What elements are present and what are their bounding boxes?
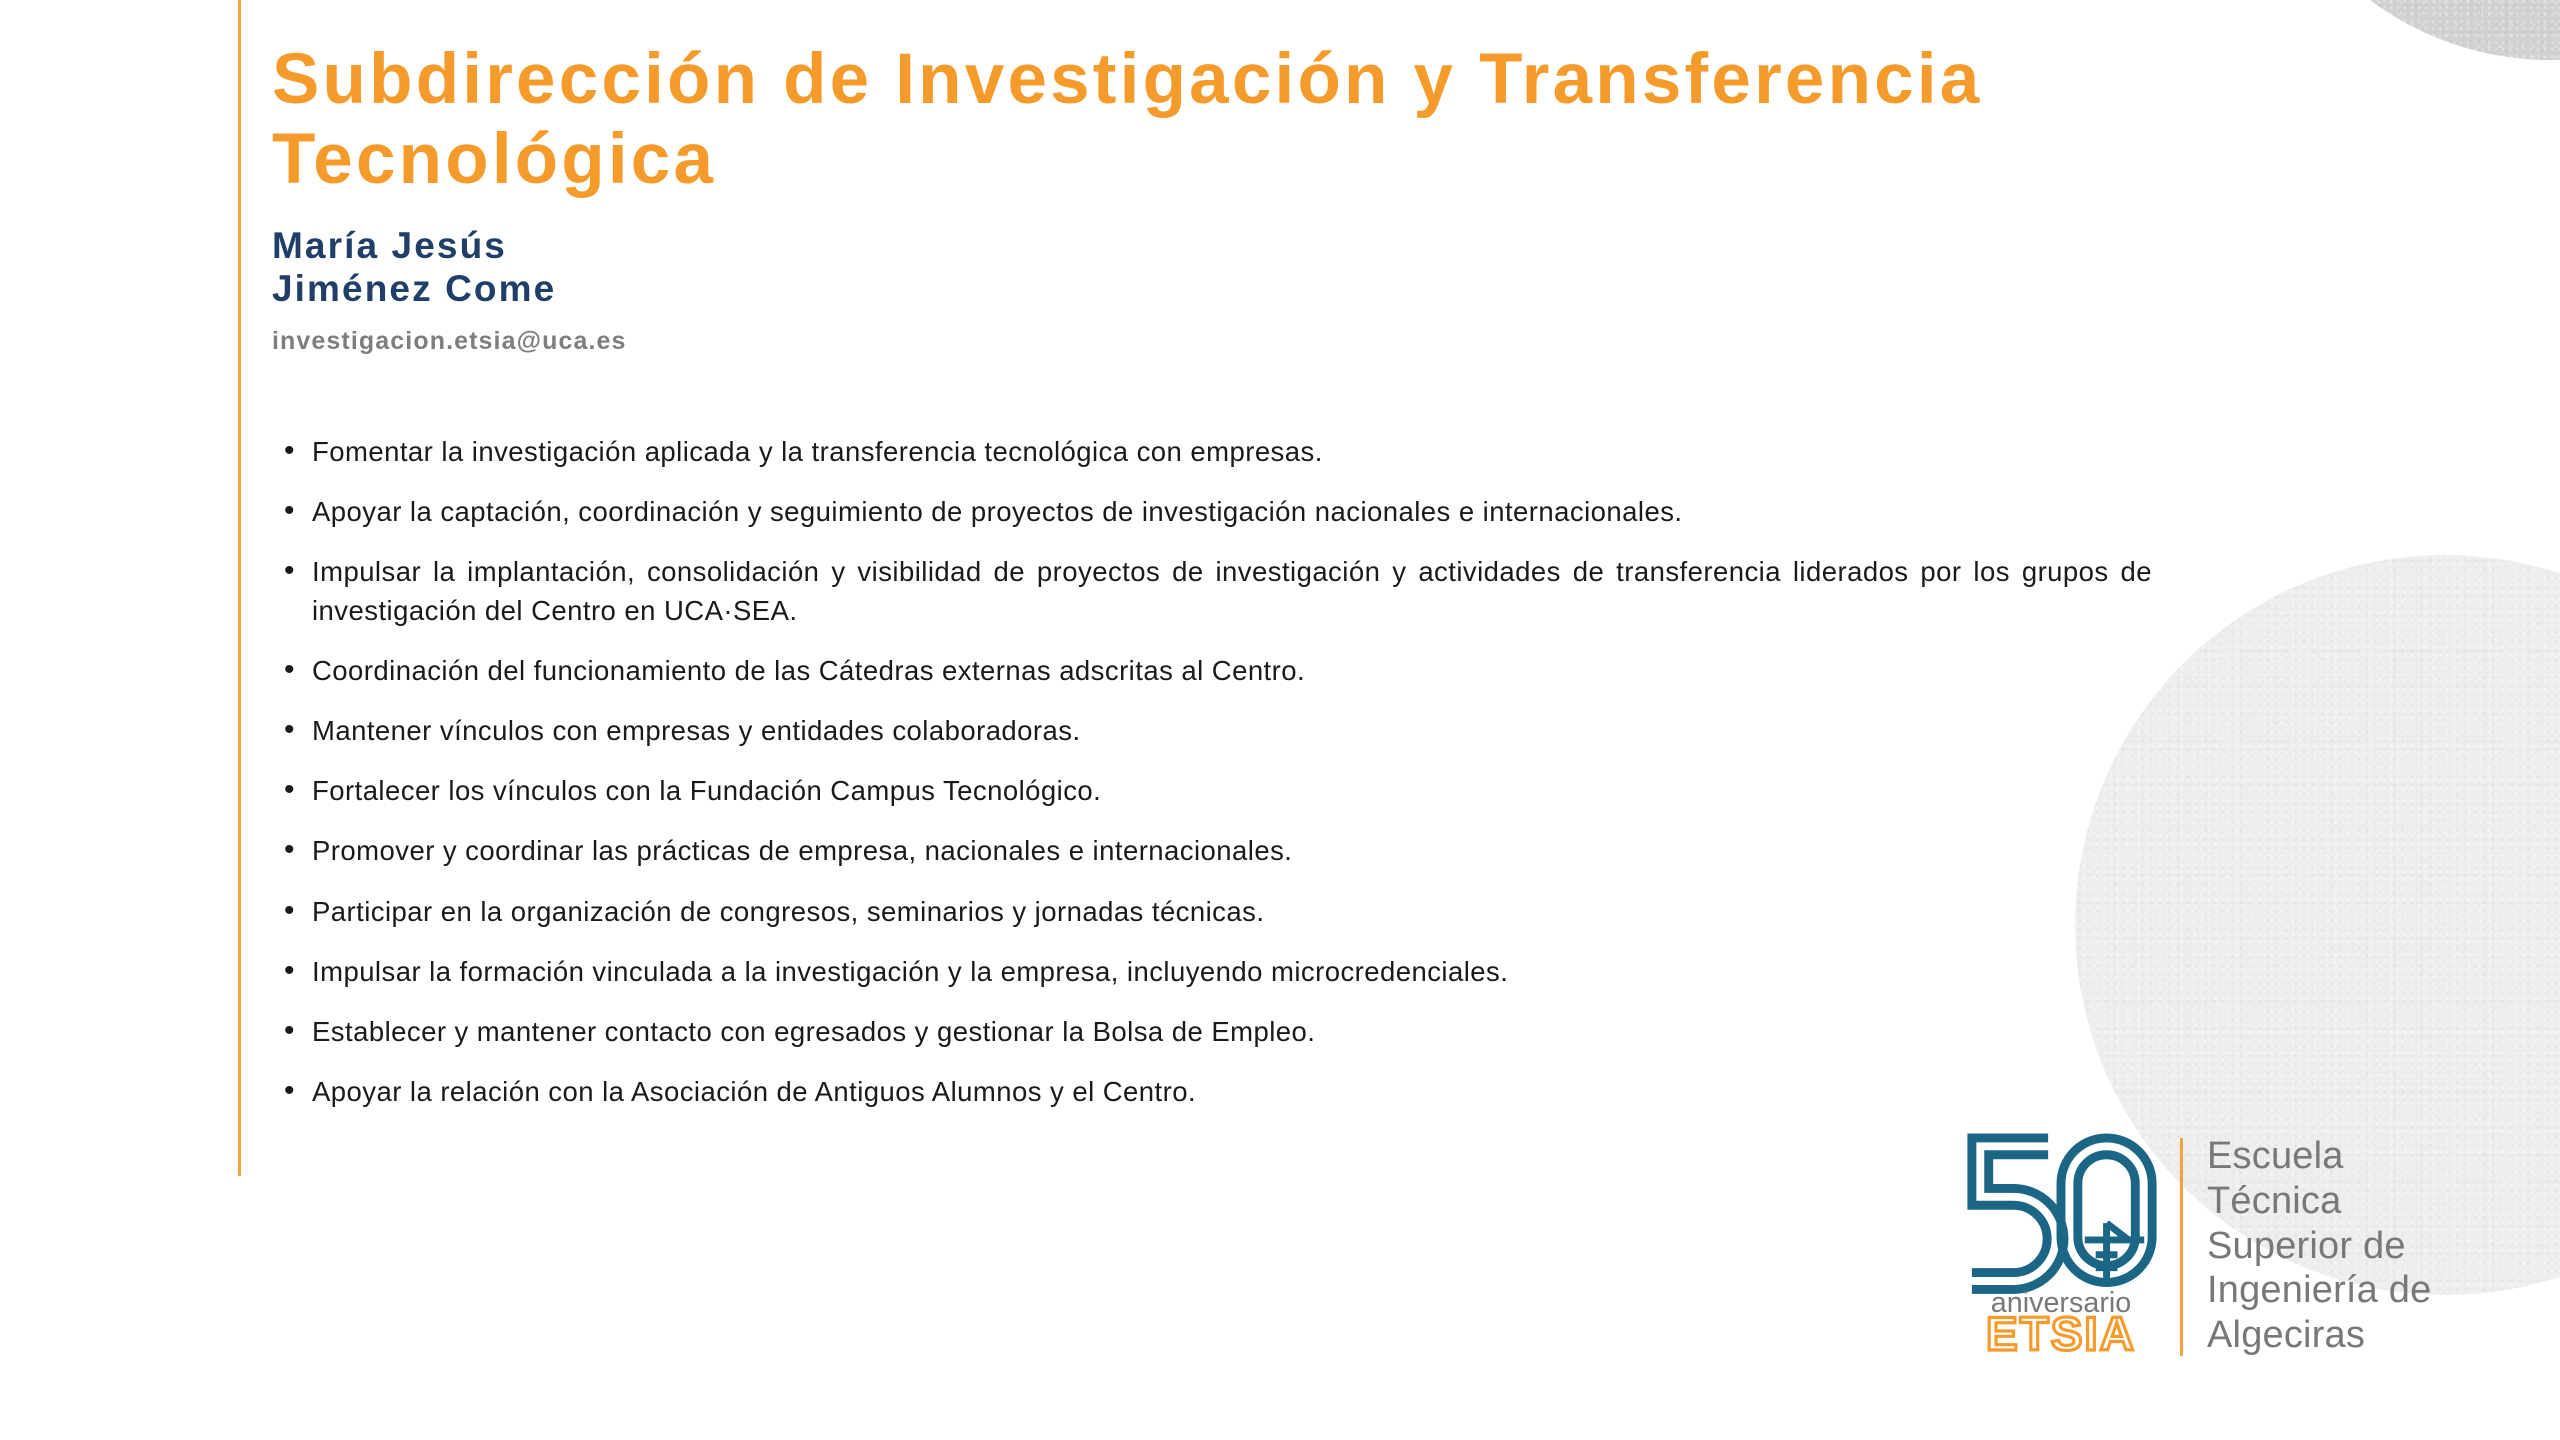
etsia-acronym-text: ETSIA <box>1986 1308 2136 1356</box>
etsia-logo: aniversario ETSIA Escuela Técnica Superi… <box>1958 1128 2431 1358</box>
list-item: Coordinación del funcionamiento de las C… <box>272 651 2152 690</box>
list-item: Establecer y mantener contacto con egres… <box>272 1012 2152 1051</box>
contact-email: investigacion.etsia@uca.es <box>272 310 2332 356</box>
list-item: Apoyar la relación con la Asociación de … <box>272 1072 2152 1111</box>
page-title: Subdirección de Investigación y Transfer… <box>272 0 2332 199</box>
list-item: Participar en la organización de congres… <box>272 892 2152 931</box>
list-item: Impulsar la implantación, consolidación … <box>272 552 2152 630</box>
presenter-name: María Jesús Jiménez Come <box>272 199 2332 310</box>
duties-list: Fomentar la investigación aplicada y la … <box>272 356 2152 1111</box>
school-name: Escuela Técnica Superior de Ingeniería d… <box>2207 1128 2431 1358</box>
etsia-logo-mark: aniversario ETSIA <box>1958 1128 2166 1356</box>
list-item: Impulsar la formación vinculada a la inv… <box>272 952 2152 991</box>
list-item: Fomentar la investigación aplicada y la … <box>272 432 2152 471</box>
list-item: Apoyar la captación, coordinación y segu… <box>272 492 2152 531</box>
list-item: Mantener vínculos con empresas y entidad… <box>272 711 2152 750</box>
list-item: Fortalecer los vínculos con la Fundación… <box>272 771 2152 810</box>
anniversary-five-glyph <box>1972 1138 2064 1290</box>
list-item: Promover y coordinar las prácticas de em… <box>272 831 2152 870</box>
slide-content: Subdirección de Investigación y Transfer… <box>272 0 2332 1132</box>
slide-root: Subdirección de Investigación y Transfer… <box>0 0 2560 1440</box>
logo-divider <box>2180 1138 2183 1356</box>
left-accent-rule <box>238 0 241 1176</box>
